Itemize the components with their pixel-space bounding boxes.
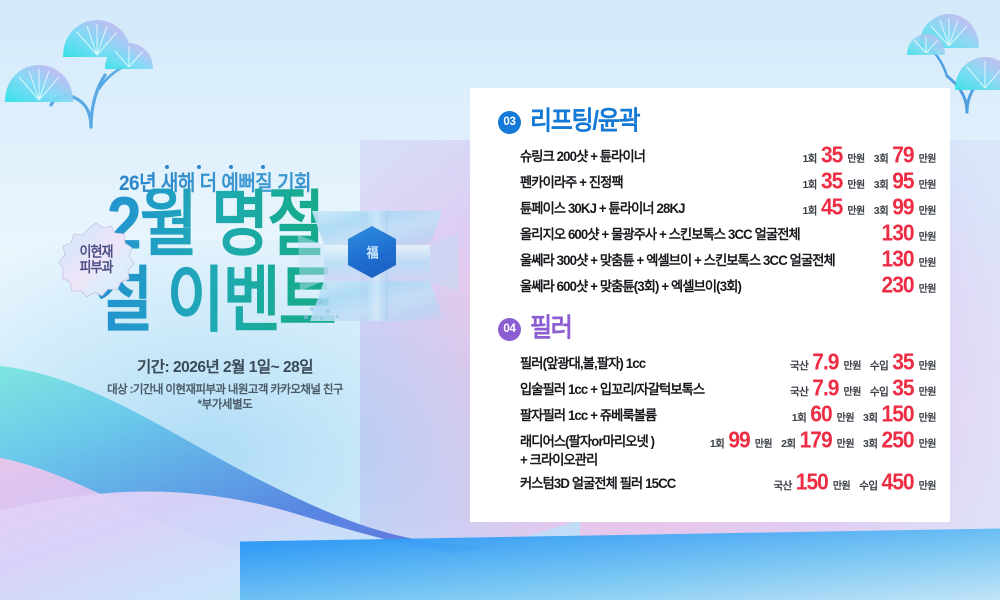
price-row: 입술필러 1cc + 입꼬리/자갈턱보톡스국산7.9만원수입35만원 (520, 376, 936, 402)
treatment-name: 울쎄라 600샷 + 맞춤튠(3회) + 엑셀브이(3회) (520, 274, 741, 296)
price-unit: 만원 (844, 383, 861, 398)
price-tier-label: 3회 (874, 151, 889, 166)
price-tier-label: 1회 (802, 177, 817, 192)
price-value: 130 (882, 222, 914, 245)
price-group: 1회60만원3회150만원 (792, 403, 936, 425)
price-tier-label: 2회 (781, 436, 796, 451)
clinic-seal-line2: 피부과 (80, 260, 113, 275)
clinic-seal-line1: 이현재 (80, 245, 113, 260)
price-group: 130만원 (882, 248, 936, 270)
price-row-list: 필러(앞광대,볼,팔자) 1cc국산7.9만원수입35만원입술필러 1cc + … (470, 350, 950, 496)
price-unit: 만원 (919, 228, 936, 243)
price-row: 커스텀3D 얼굴전체 필러 15CC국산150만원수입450만원 (520, 470, 936, 496)
price-group: 1회45만원3회99만원 (802, 196, 936, 218)
price-row: 울쎄라 300샷 + 맞춤튠 + 엑셀브이 + 스킨보톡스 3CC 얼굴전체13… (520, 247, 936, 273)
price-group: 국산7.9만원수입35만원 (790, 351, 936, 373)
price-unit: 만원 (833, 477, 850, 492)
event-period: 기간: 2026년 2월 1일~ 28일 (0, 355, 450, 377)
price-value: 99 (892, 196, 913, 219)
price-value: 7.9 (812, 377, 838, 400)
price-value: 250 (882, 429, 914, 452)
price-tier-label: 국산 (773, 478, 791, 493)
treatment-name: 래디어스(팔자or마리오넷 )+ 크라이오관리 (520, 428, 654, 470)
price-tier-label: 국산 (790, 358, 808, 373)
event-tax-note: *부가세별도 (0, 396, 450, 412)
price-value: 230 (882, 274, 914, 297)
treatment-name: 튠페이스 30KJ + 튠라이너 28KJ (520, 196, 685, 218)
section-number-badge: 03 (498, 111, 521, 134)
price-group: 1회35만원3회95만원 (802, 170, 936, 192)
treatment-name: 입술필러 1cc + 입꼬리/자갈턱보톡스 (520, 377, 704, 399)
price-unit: 만원 (837, 409, 854, 424)
price-unit: 만원 (837, 435, 854, 450)
price-value: 7.9 (812, 351, 838, 374)
price-value: 130 (882, 248, 914, 271)
price-value: 179 (800, 429, 832, 452)
price-value: 150 (882, 403, 914, 426)
fortune-pouch-graphic: 福 (290, 195, 465, 330)
price-tier-label: 3회 (874, 203, 889, 218)
clinic-seal-badge: 이현재 피부과 (57, 220, 135, 300)
price-section-04: 04필러필러(앞광대,볼,팔자) 1cc국산7.9만원수입35만원입술필러 1c… (470, 317, 950, 496)
price-unit: 만원 (919, 357, 936, 372)
price-value: 150 (796, 472, 828, 495)
price-row: 슈링크 200샷 + 튠라이너1회35만원3회79만원 (520, 143, 936, 169)
price-unit: 만원 (847, 176, 864, 191)
price-unit: 만원 (919, 435, 936, 450)
price-tier-label: 1회 (710, 436, 725, 451)
price-tier-label: 3회 (863, 410, 878, 425)
price-tier-label: 3회 (874, 177, 889, 192)
section-title: 리프팅/윤곽 (530, 109, 639, 135)
price-value: 99 (728, 429, 749, 452)
price-value: 79 (892, 144, 913, 167)
price-group: 230만원 (882, 274, 936, 296)
treatment-name: 슈링크 200샷 + 튠라이너 (520, 144, 645, 166)
poster-canvas: 26년 새해 더 예뻐질 기회 2월 명절 설 이벤트 기간: 2026년 2월… (0, 0, 1000, 600)
price-group: 1회99만원2회179만원3회250만원 (710, 429, 936, 451)
price-tier-label: 수입 (859, 478, 877, 493)
price-row-list: 슈링크 200샷 + 튠라이너1회35만원3회79만원펜카이라주 + 진정팩1회… (470, 143, 950, 299)
section-title: 필러 (530, 316, 572, 342)
price-row: 필러(앞광대,볼,팔자) 1cc국산7.9만원수입35만원 (520, 350, 936, 376)
price-value: 35 (892, 377, 913, 400)
price-unit: 만원 (919, 383, 936, 398)
price-tier-label: 1회 (802, 151, 817, 166)
price-tier-label: 국산 (790, 384, 808, 399)
price-unit: 만원 (919, 150, 936, 165)
price-group: 국산150만원수입450만원 (773, 471, 936, 493)
pouch-medallion-mark: 福 (366, 242, 377, 262)
price-panel: 03리프팅/윤곽슈링크 200샷 + 튠라이너1회35만원3회79만원펜카이라주… (470, 88, 950, 522)
price-row: 팔자필러 1cc + 쥬베룩볼륨1회60만원3회150만원 (520, 402, 936, 428)
price-section-03: 03리프팅/윤곽슈링크 200샷 + 튠라이너1회35만원3회79만원펜카이라주… (470, 110, 950, 299)
price-group: 130만원 (882, 222, 936, 244)
treatment-name: 팔자필러 1cc + 쥬베룩볼륨 (520, 403, 656, 425)
price-unit: 만원 (755, 435, 772, 450)
price-tier-label: 1회 (792, 410, 807, 425)
event-target-note: 대상 :기간내 이현재피부과 내원고객 카카오채널 친구 (0, 381, 450, 397)
price-value: 35 (821, 170, 842, 193)
price-row: 펜카이라주 + 진정팩1회35만원3회95만원 (520, 169, 936, 195)
price-group: 1회35만원3회79만원 (802, 144, 936, 166)
price-value: 60 (810, 403, 831, 426)
section-number-badge: 04 (498, 318, 521, 341)
price-unit: 만원 (919, 176, 936, 191)
price-row: 래디어스(팔자or마리오넷 )+ 크라이오관리1회99만원2회179만원3회25… (520, 428, 936, 470)
price-unit: 만원 (919, 409, 936, 424)
price-value: 95 (892, 170, 913, 193)
price-value: 35 (892, 351, 913, 374)
price-value: 450 (882, 472, 914, 495)
floral-decoration-top-left (0, 5, 205, 135)
price-row: 올리지오 600샷 + 물광주사 + 스킨보톡스 3CC 얼굴전체130만원 (520, 221, 936, 247)
price-unit: 만원 (919, 477, 936, 492)
treatment-name: 커스텀3D 얼굴전체 필러 15CC (520, 471, 675, 493)
price-unit: 만원 (844, 357, 861, 372)
treatment-name: 울쎄라 300샷 + 맞춤튠 + 엑셀브이 + 스킨보톡스 3CC 얼굴전체 (520, 248, 835, 270)
price-row: 튠페이스 30KJ + 튠라이너 28KJ1회45만원3회99만원 (520, 195, 936, 221)
price-row: 울쎄라 600샷 + 맞춤튠(3회) + 엑셀브이(3회)230만원 (520, 273, 936, 299)
treatment-name: 펜카이라주 + 진정팩 (520, 170, 623, 192)
price-unit: 만원 (919, 202, 936, 217)
price-unit: 만원 (919, 254, 936, 269)
clinic-seal-text: 이현재 피부과 (57, 216, 135, 304)
price-group: 국산7.9만원수입35만원 (790, 377, 936, 399)
price-tier-label: 수입 (870, 358, 888, 373)
price-value: 45 (821, 196, 842, 219)
price-value: 35 (821, 144, 842, 167)
treatment-name: 필러(앞광대,볼,팔자) 1cc (520, 351, 645, 373)
price-tier-label: 1회 (802, 203, 817, 218)
price-unit: 만원 (847, 150, 864, 165)
price-tier-label: 3회 (863, 436, 878, 451)
price-unit: 만원 (847, 202, 864, 217)
section-header-04: 04필러 (470, 317, 950, 341)
treatment-name: 올리지오 600샷 + 물광주사 + 스킨보톡스 3CC 얼굴전체 (520, 222, 800, 244)
price-tier-label: 수입 (870, 384, 888, 399)
price-unit: 만원 (919, 280, 936, 295)
section-header-03: 03리프팅/윤곽 (470, 110, 950, 134)
